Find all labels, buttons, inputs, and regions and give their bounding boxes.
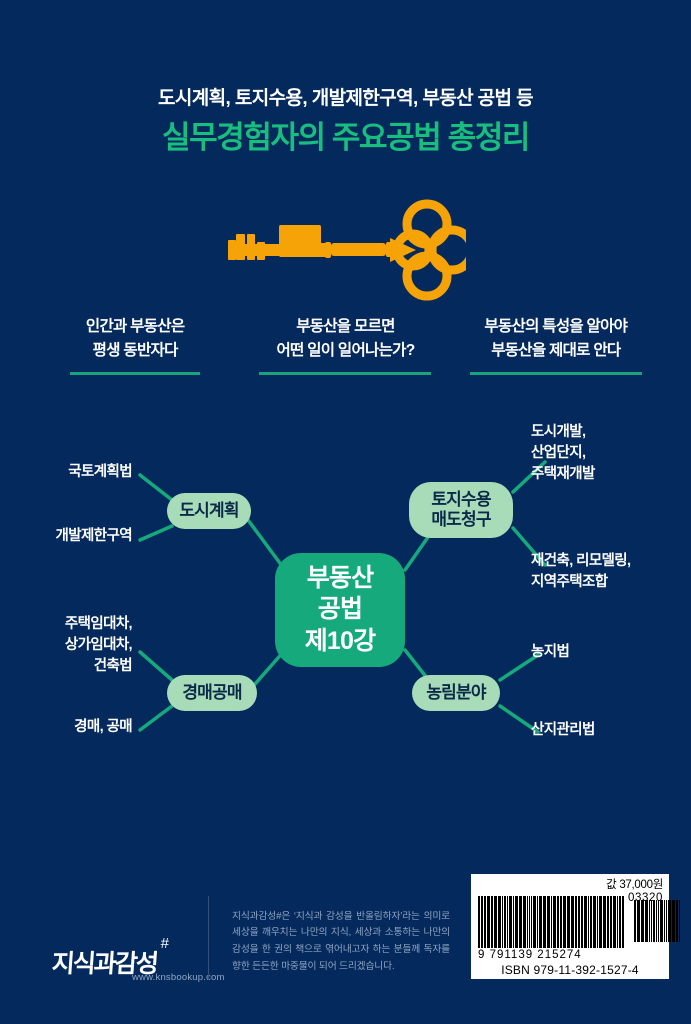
heading-column-2: 부동산을 모르면 어떤 일이 일어나는가? <box>240 315 450 375</box>
heading-column-3: 부동산의 특성을 알아야 부동산을 제대로 안다 <box>451 315 661 375</box>
barcode-bar <box>527 896 528 948</box>
mindmap-leaf-land-1: 도시개발, 산업단지, 주택재개발 <box>531 422 595 485</box>
footer: 지식과감성 # www.knsbookup.com 지식과감성#은 ‘지식과 감… <box>0 864 691 1024</box>
barcode-addon5 <box>634 900 681 942</box>
barcode-bar <box>656 900 657 942</box>
barcode-bar <box>481 896 483 948</box>
barcode-bar <box>498 896 501 948</box>
mindmap-leaf-land-2: 재건축, 리모델링, 지역주택조합 <box>531 551 630 593</box>
book-back-cover: 도시계획, 토지수용, 개발제한구역, 부동산 공법 등 실무경험자의 주요공법… <box>0 0 691 1024</box>
barcode-bar <box>597 896 598 948</box>
key-icon <box>226 198 466 302</box>
price-label: 값 37,000원 <box>477 878 663 892</box>
barcode-bar <box>668 900 671 942</box>
barcode-bar <box>563 896 566 948</box>
barcode-bar <box>619 896 621 948</box>
barcode-bar <box>531 896 532 948</box>
barcode-bar <box>494 896 497 948</box>
barcode-bar <box>660 900 663 942</box>
barcode-bar <box>676 900 678 942</box>
barcode-bar <box>607 896 609 948</box>
barcode-bar <box>666 900 667 942</box>
barcode-bar <box>664 900 665 942</box>
barcode-bar <box>553 896 556 948</box>
barcode-bar <box>651 900 652 942</box>
barcode-bar <box>599 896 602 948</box>
barcode-bar <box>658 900 659 942</box>
footer-divider <box>208 896 209 980</box>
hash-icon: # <box>161 935 169 952</box>
title-block: 도시계획, 토지수용, 개발제한구역, 부동산 공법 등 실무경험자의 주요공법… <box>0 88 691 155</box>
barcode-bar <box>679 900 680 942</box>
heading-text-3: 부동산의 특성을 알아야 부동산을 제대로 안다 <box>455 315 657 363</box>
barcode-bar <box>617 896 618 948</box>
barcode-bar <box>581 896 583 948</box>
barcode-bar <box>507 896 508 948</box>
barcode-bar <box>491 896 493 948</box>
mindmap-leaf-agri-2: 산지관리법 <box>531 720 595 741</box>
barcode-bar <box>593 896 596 948</box>
barcode-bar <box>502 896 503 948</box>
barcode-bar <box>523 896 526 948</box>
barcode-bar <box>588 896 589 948</box>
heading-text-1: 인간과 부동산은 평생 동반자다 <box>34 315 236 363</box>
barcode-bar <box>653 900 655 942</box>
barcode-bar <box>613 896 616 948</box>
isbn-label: ISBN 979-11-392-1527-4 <box>478 963 662 977</box>
mindmap-branch-auction-public-sale[interactable]: 경매공매 <box>167 675 257 711</box>
mindmap-leaf-urban-1: 국토계획법 <box>68 462 132 483</box>
subtitle-text: 도시계획, 토지수용, 개발제한구역, 부동산 공법 등 <box>0 88 691 111</box>
headings-row: 인간과 부동산은 평생 동반자다 부동산을 모르면 어떤 일이 일어나는가? 부… <box>30 315 661 375</box>
barcode-bar <box>543 896 546 948</box>
key-illustration <box>0 198 691 302</box>
barcode-bar <box>610 896 612 948</box>
barcode-bar <box>637 900 640 942</box>
heading-rule-2 <box>259 372 431 375</box>
barcode-bar <box>672 900 675 942</box>
barcode-bar <box>509 896 512 948</box>
barcode-bar <box>603 896 606 948</box>
mindmap-leaf-auction-1: 주택임대차, 상가임대차, 건축법 <box>65 614 132 677</box>
mindmap-branch-agriculture-forestry[interactable]: 농림분야 <box>412 675 500 711</box>
mindmap-center-node[interactable]: 부동산 공법 제10강 <box>275 553 405 667</box>
barcode-bar <box>484 896 486 948</box>
ean-digits: 9 791139 215274 <box>478 949 628 961</box>
publisher-blurb: 지식과감성#은 ‘지식과 감성을 반올림하자’라는 의미로 세상을 깨우치는 나… <box>232 909 450 976</box>
barcode-bar <box>539 896 542 948</box>
barcode-bar <box>584 896 587 948</box>
mindmap-branch-urban-planning[interactable]: 도시계획 <box>167 493 251 529</box>
barcode-bar <box>645 900 648 942</box>
barcode-bar <box>529 896 530 948</box>
barcode-bar <box>547 896 550 948</box>
barcode-bar <box>533 896 536 948</box>
barcode-bar <box>649 900 650 942</box>
barcode-bar <box>519 896 522 948</box>
barcode-bars <box>478 896 681 948</box>
publisher-url[interactable]: www.knsbookup.com <box>132 972 225 983</box>
barcode-bar <box>478 896 480 948</box>
barcode-bar <box>513 896 514 948</box>
barcode-bar <box>551 896 552 948</box>
barcode-bar <box>571 896 574 948</box>
barcode-bar <box>560 896 562 948</box>
barcode-bar <box>487 896 490 948</box>
heading-rule-1 <box>70 372 200 375</box>
barcode-bar <box>567 896 570 948</box>
mindmap: 부동산 공법 제10강 도시계획 토지수용 매도청구 경매공매 농림분야 국토계… <box>0 400 691 780</box>
mindmap-branch-land-expropriation[interactable]: 토지수용 매도청구 <box>409 482 513 538</box>
barcode-bar <box>578 896 580 948</box>
barcode-bar <box>590 896 592 948</box>
heading-column-1: 인간과 부동산은 평생 동반자다 <box>30 315 240 375</box>
heading-text-2: 부동산을 모르면 어떤 일이 일어나는가? <box>244 315 446 363</box>
main-title-text: 실무경험자의 주요공법 총정리 <box>0 120 691 156</box>
mindmap-leaf-agri-1: 농지법 <box>531 642 569 663</box>
barcode-bar <box>537 896 538 948</box>
barcode-bar <box>622 896 624 948</box>
mindmap-leaf-urban-2: 개발제한구역 <box>56 526 132 547</box>
barcode-bar <box>575 896 577 948</box>
barcode-block: 값 37,000원 03320 9 791139 215274 ISBN 979… <box>471 874 669 979</box>
barcode-ean13 <box>478 896 625 948</box>
barcode-bar <box>504 896 506 948</box>
mindmap-leaf-auction-2: 경매, 공매 <box>74 717 132 738</box>
barcode-bar <box>641 900 644 942</box>
barcode-bar <box>557 896 559 948</box>
heading-rule-3 <box>470 372 642 375</box>
publisher-logo[interactable]: 지식과감성 # www.knsbookup.com <box>52 944 157 980</box>
barcode-bar <box>634 900 636 942</box>
barcode-bar <box>515 896 518 948</box>
